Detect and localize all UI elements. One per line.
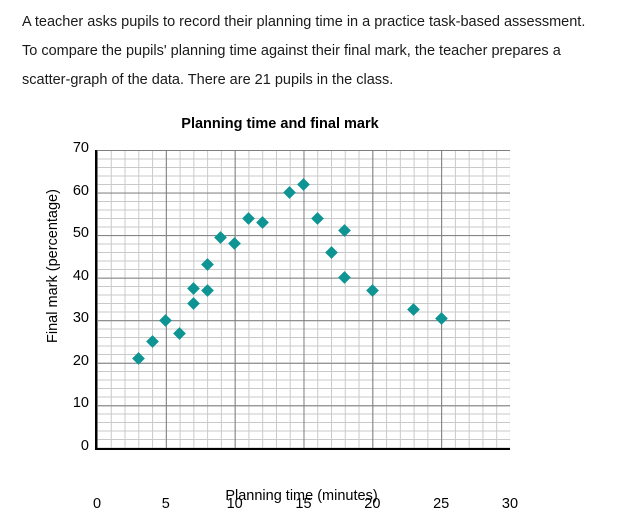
data-point [242, 212, 255, 225]
data-point [338, 271, 351, 284]
data-point [132, 352, 145, 365]
data-point [338, 225, 351, 238]
data-point [407, 303, 420, 316]
data-point [256, 216, 269, 229]
chart-title: Planning time and final mark [0, 116, 560, 132]
data-point [159, 314, 172, 327]
data-point [283, 186, 296, 199]
data-point [201, 259, 214, 272]
y-axis-title: Final mark (percentage) [45, 117, 61, 415]
data-point [146, 335, 159, 348]
data-point [187, 282, 200, 295]
data-point [297, 178, 310, 191]
minor-gridlines [97, 150, 510, 448]
data-point [215, 231, 228, 244]
plot-area: 051015202530 010203040506070 [95, 150, 510, 450]
y-tick-label: 0 [45, 438, 89, 454]
data-point [325, 246, 338, 259]
scatter-chart-figure: Planning time and final mark 05101520253… [0, 108, 618, 517]
data-point [311, 212, 324, 225]
data-point [187, 297, 200, 310]
data-point [435, 312, 448, 325]
data-point [201, 284, 214, 297]
data-point [173, 327, 186, 340]
data-point [366, 284, 379, 297]
major-gridlines [97, 150, 510, 448]
intro-paragraph: A teacher asks pupils to record their pl… [22, 8, 598, 95]
x-axis-title: Planning time (minutes) [95, 488, 508, 504]
data-point [228, 237, 241, 250]
